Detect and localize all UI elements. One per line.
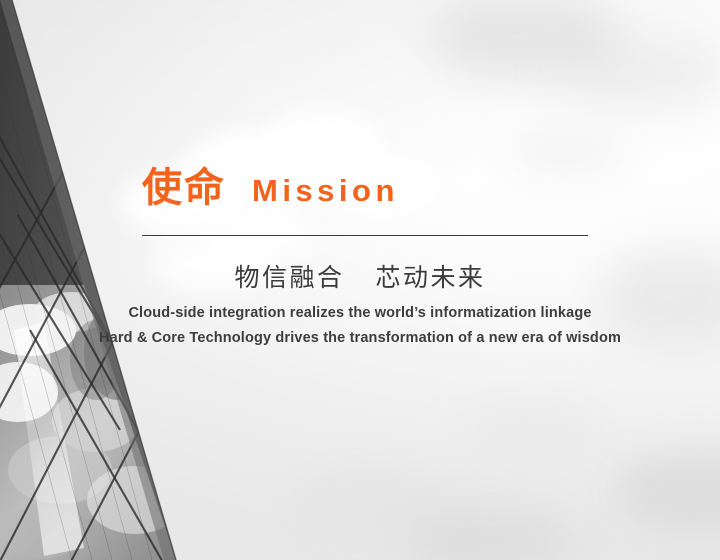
description-line-2: Hard & Core Technology drives the transf… bbox=[0, 330, 720, 346]
subtitle-part-2: 芯动未来 bbox=[375, 264, 485, 292]
title-chinese: 使命 bbox=[142, 168, 226, 208]
page-title: 使命 Mission bbox=[142, 168, 399, 208]
mission-hero-banner: 使命 Mission 物信融合 芯动未来 Cloud-side integrat… bbox=[0, 0, 720, 560]
hero-content: 使命 Mission 物信融合 芯动未来 Cloud-side integrat… bbox=[0, 0, 720, 560]
title-divider bbox=[142, 235, 588, 236]
title-english: Mission bbox=[252, 175, 399, 206]
subtitle-part-1: 物信融合 bbox=[235, 264, 345, 292]
description-line-1: Cloud-side integration realizes the worl… bbox=[0, 305, 720, 321]
subtitle-chinese: 物信融合 芯动未来 bbox=[0, 258, 720, 294]
